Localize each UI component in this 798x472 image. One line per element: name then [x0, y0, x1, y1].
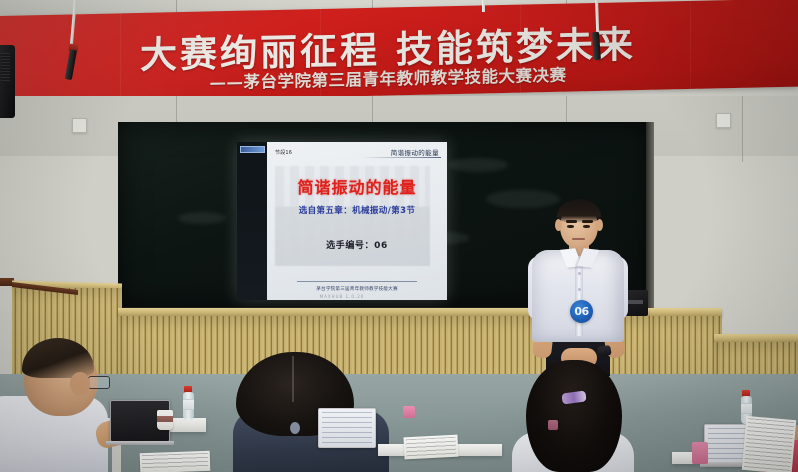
device-vent: [626, 300, 643, 304]
slide-header-right: 简谐振动的能量: [391, 147, 439, 157]
wall-seam: [742, 96, 743, 162]
hanging-rod: [482, 0, 485, 12]
presentation-toolbar[interactable]: [240, 146, 265, 153]
teacher-eye-right: [583, 225, 590, 228]
wall-speaker: [0, 45, 15, 118]
teacher-mouth: [572, 238, 585, 240]
laptop-base: [106, 441, 174, 445]
judge-hair: [526, 360, 622, 472]
shirt-button: [578, 288, 581, 291]
light-switch-plate[interactable]: [72, 118, 87, 133]
contestant-badge: 06: [570, 300, 593, 323]
paper-lines: [142, 453, 209, 471]
classroom-photo: 大赛绚丽征程 技能筑梦未来 ——茅台学院第三届青年教师教学技能大赛决赛 节段16…: [0, 0, 798, 472]
slide-canvas: 节段16 简谐振动的能量 简谐振动的能量 选自第五章：机械振动/第3节 选手编号…: [267, 142, 447, 300]
chalk-smudge: [486, 190, 560, 208]
score-sheet[interactable]: [140, 451, 211, 472]
speaker-grill: [1, 53, 10, 83]
light-switch-plate[interactable]: [716, 113, 731, 128]
projection-screen: 节段16 简谐振动的能量 简谐振动的能量 选自第五章：机械振动/第3节 选手编号…: [237, 142, 447, 300]
slide-contestant-number: 选手编号：06: [267, 238, 447, 251]
desk-object-pink: [692, 442, 708, 464]
paper-lines: [744, 418, 794, 472]
competition-banner: 大赛绚丽征程 技能筑梦未来 ——茅台学院第三届青年教师教学技能大赛决赛: [0, 0, 798, 104]
bottle-label: [183, 399, 194, 410]
score-sheet[interactable]: [403, 435, 458, 460]
desk-object-pink: [403, 406, 415, 418]
hair-part: [292, 356, 294, 402]
score-sheet[interactable]: [742, 416, 797, 472]
teacher-eye-left: [567, 225, 574, 228]
judge-ear: [70, 372, 90, 396]
laptop-center[interactable]: [318, 408, 376, 448]
slide-header-rule: [361, 157, 441, 158]
slide-subtitle: 选自第五章：机械振动/第3节: [267, 204, 447, 216]
projector-brand-label: MAXHUB 1.0.20: [237, 294, 447, 299]
laptop-screen-content: [322, 412, 372, 444]
slide-footer-rule: [297, 281, 417, 282]
cup-band: [157, 416, 173, 422]
chalk-smudge: [448, 158, 508, 172]
teacher-eyebrow-left: [566, 220, 577, 223]
shirt-placket: [575, 258, 583, 336]
projector-side-gutter: [237, 142, 267, 300]
blackboard-right-frame: [646, 122, 654, 312]
slide-footer: 茅台学院第三届青年教师教学技能大赛: [267, 286, 447, 292]
slide-header-left: 节段16: [275, 149, 292, 156]
bottle-label: [741, 403, 752, 414]
shirt-button: [578, 272, 581, 275]
eyeglasses-icon: [88, 376, 110, 389]
chalk-smudge: [178, 212, 226, 224]
teacher-ear-right: [596, 219, 603, 231]
paper-lines: [406, 437, 457, 458]
teacher-eyebrow-right: [582, 220, 593, 223]
desk-object-pink: [548, 420, 558, 430]
slide-title: 简谐振动的能量: [267, 174, 447, 198]
collar-detail: [290, 422, 300, 434]
